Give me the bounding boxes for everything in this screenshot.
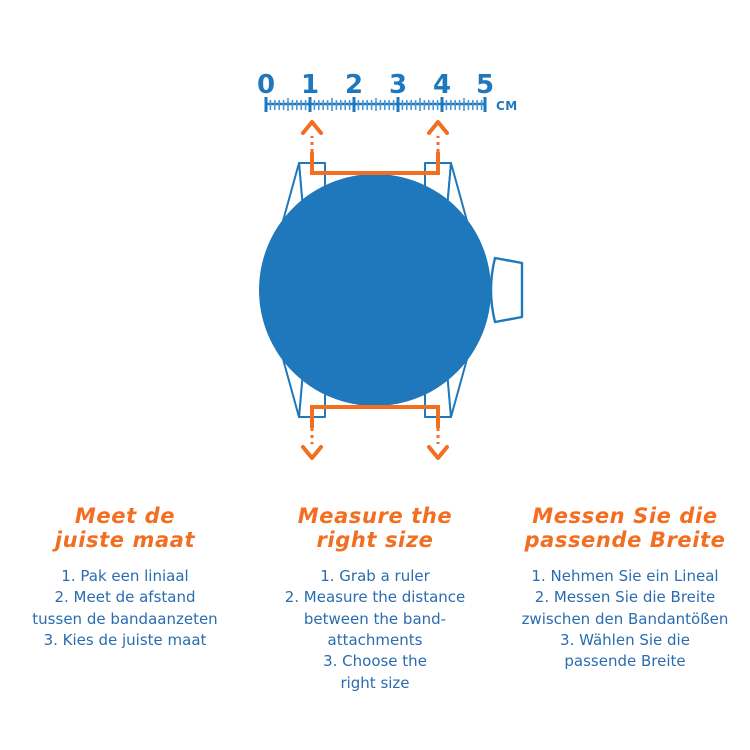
- instruction-columns: Meet de juiste maat 1. Pak een liniaal 2…: [0, 505, 750, 750]
- top-arrow-heads: [303, 122, 447, 133]
- watch-dial: [259, 174, 491, 406]
- ruler-tick-label-0: 0: [251, 72, 281, 98]
- ruler-tick-label-4: 4: [427, 72, 457, 98]
- top-measure-bracket: [312, 152, 438, 173]
- step-item: 3. Choose the right size: [254, 651, 496, 694]
- ruler-unit-label: CM: [496, 99, 518, 113]
- ruler-tick-label-3: 3: [383, 72, 413, 98]
- step-item: 2. Measure the distance between the band…: [254, 587, 496, 651]
- step-item: 3. Wählen Sie die passende Breite: [504, 630, 746, 673]
- ruler-tick-label-2: 2: [339, 72, 369, 98]
- ruler: [265, 97, 486, 112]
- ruler-tick-label-5: 5: [470, 72, 500, 98]
- column-heading-de: Messen Sie die passende Breite: [504, 505, 746, 552]
- ruler-tick-label-1: 1: [295, 72, 325, 98]
- up-arrow-left-icon: [303, 122, 321, 133]
- instruction-column-en: Measure the right size 1. Grab a ruler 2…: [250, 505, 500, 694]
- down-arrow-left-icon: [303, 447, 321, 458]
- step-item: 1. Pak een liniaal: [4, 566, 246, 587]
- bottom-measure-dotted: [312, 428, 438, 444]
- step-list-nl: 1. Pak een liniaal 2. Meet de afstand tu…: [4, 566, 246, 651]
- step-item: 1. Grab a ruler: [254, 566, 496, 587]
- up-arrow-right-icon: [429, 122, 447, 133]
- step-item: 2. Messen Sie die Breite zwischen den Ba…: [504, 587, 746, 630]
- step-item: 2. Meet de afstand tussen de bandaanzete…: [4, 587, 246, 630]
- down-arrow-right-icon: [429, 447, 447, 458]
- instruction-column-nl: Meet de juiste maat 1. Pak een liniaal 2…: [0, 505, 250, 651]
- step-item: 1. Nehmen Sie ein Lineal: [504, 566, 746, 587]
- step-item: 3. Kies de juiste maat: [4, 630, 246, 651]
- watch-crown: [491, 258, 522, 322]
- diagram-canvas: [0, 0, 750, 500]
- bottom-measure-bracket: [312, 407, 438, 428]
- column-heading-nl: Meet de juiste maat: [4, 505, 246, 552]
- instruction-column-de: Messen Sie die passende Breite 1. Nehmen…: [500, 505, 750, 673]
- step-list-en: 1. Grab a ruler 2. Measure the distance …: [254, 566, 496, 694]
- step-list-de: 1. Nehmen Sie ein Lineal 2. Messen Sie d…: [504, 566, 746, 672]
- watch-measurement-diagram: 0 1 2 3 4 5 CM: [0, 0, 750, 500]
- bottom-arrow-heads: [303, 447, 447, 458]
- column-heading-en: Measure the right size: [254, 505, 496, 552]
- top-measure-dotted: [312, 136, 438, 152]
